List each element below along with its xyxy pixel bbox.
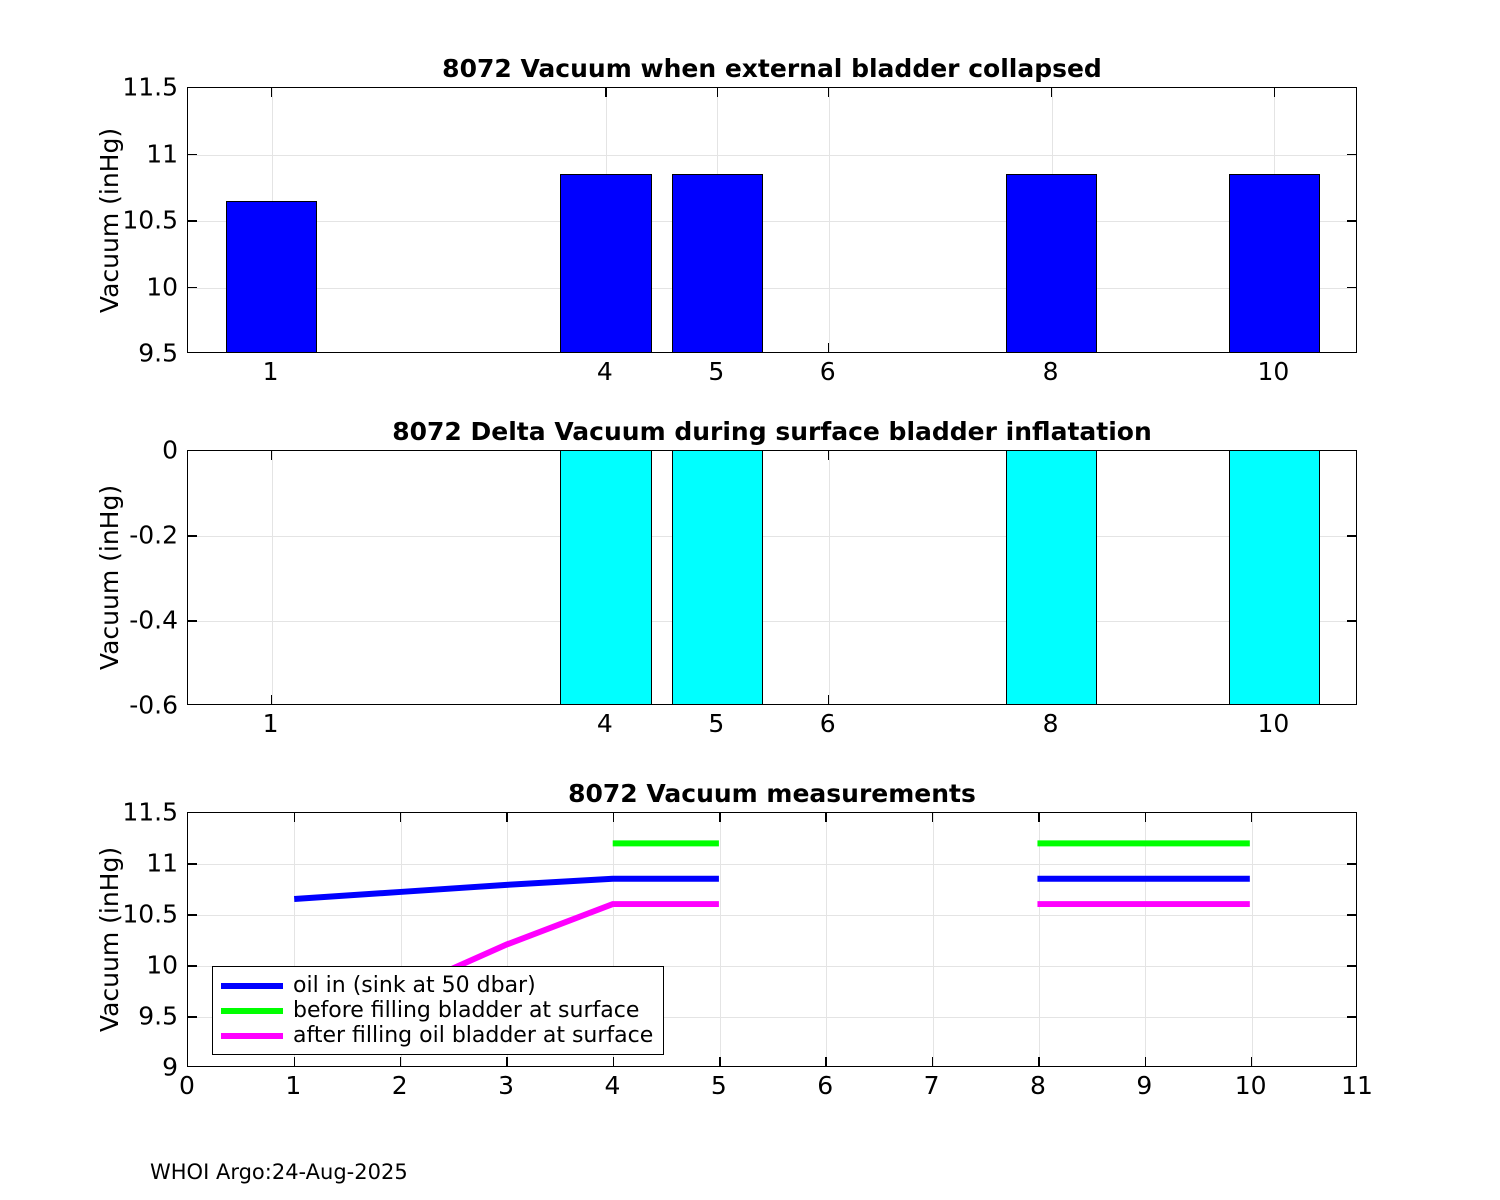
y-tick-label: 9 <box>162 1055 178 1080</box>
x-tick-label: 8 <box>1030 1073 1046 1098</box>
legend-item[interactable]: after filling oil bladder at surface <box>221 1023 653 1048</box>
y-tick-label: 0 <box>162 438 178 463</box>
figure-footer-credit: WHOI Argo:24-Aug-2025 <box>150 1160 408 1184</box>
subplot3-y-axis-label: Vacuum (inHg) <box>97 847 122 1032</box>
x-tick-label: 6 <box>820 711 836 736</box>
subplot1-plot-area <box>187 87 1357 353</box>
legend-label: oil in (sink at 50 dbar) <box>293 975 536 997</box>
bar <box>672 174 763 353</box>
bar <box>1006 451 1097 705</box>
subplot-vacuum-measurements: 8072 Vacuum measurements Vacuum (inHg) o… <box>187 812 1357 1067</box>
x-tick-label: 11 <box>1341 1073 1373 1098</box>
x-tick-label: 5 <box>708 359 724 384</box>
y-tick-label: 11.5 <box>122 800 178 825</box>
y-tick-label: -0.6 <box>129 693 178 718</box>
y-tick-label: 10.5 <box>122 208 178 233</box>
y-tick-label: 10.5 <box>122 902 178 927</box>
bar <box>672 451 763 705</box>
subplot1-y-axis-label: Vacuum (inHg) <box>97 127 122 312</box>
bar <box>1229 451 1320 705</box>
y-tick-label: 11 <box>146 851 178 876</box>
bar <box>560 174 651 353</box>
series-line <box>294 879 719 899</box>
y-tick-label: -0.2 <box>129 523 178 548</box>
x-tick-label: 3 <box>498 1073 514 1098</box>
bar <box>1006 174 1097 353</box>
y-tick-label: -0.4 <box>129 608 178 633</box>
y-tick-label: 10 <box>146 953 178 978</box>
x-tick-label: 2 <box>392 1073 408 1098</box>
subplot2-y-axis-label: Vacuum (inHg) <box>97 485 122 670</box>
y-tick-label: 10 <box>146 274 178 299</box>
legend-color-swatch <box>221 1033 283 1039</box>
y-tick-label: 9.5 <box>138 341 178 366</box>
x-tick-label: 4 <box>597 359 613 384</box>
x-tick-label: 7 <box>924 1073 940 1098</box>
x-tick-label: 0 <box>179 1073 195 1098</box>
y-tick-label: 11 <box>146 141 178 166</box>
subplot-vacuum-bladder-collapsed: 8072 Vacuum when external bladder collap… <box>187 87 1357 353</box>
legend-color-swatch <box>221 983 283 989</box>
legend-item[interactable]: before filling bladder at surface <box>221 998 653 1023</box>
subplot-delta-vacuum-inflation: 8072 Delta Vacuum during surface bladder… <box>187 450 1357 705</box>
y-tick-label: 9.5 <box>138 1004 178 1029</box>
x-tick-label: 4 <box>597 711 613 736</box>
y-tick-label: 11.5 <box>122 75 178 100</box>
bar <box>226 201 317 353</box>
x-tick-label: 1 <box>263 711 279 736</box>
x-tick-label: 1 <box>263 359 279 384</box>
x-tick-label: 6 <box>820 359 836 384</box>
x-tick-label: 4 <box>605 1073 621 1098</box>
legend: oil in (sink at 50 dbar)before filling b… <box>212 966 664 1055</box>
bar <box>560 451 651 705</box>
x-tick-label: 6 <box>817 1073 833 1098</box>
subplot3-title: 8072 Vacuum measurements <box>187 781 1357 806</box>
legend-color-swatch <box>221 1008 283 1014</box>
x-tick-label: 5 <box>708 711 724 736</box>
x-tick-label: 10 <box>1258 711 1290 736</box>
x-tick-label: 1 <box>285 1073 301 1098</box>
subplot2-plot-area <box>187 450 1357 705</box>
legend-label: before filling bladder at surface <box>293 1000 639 1022</box>
x-tick-label: 8 <box>1043 359 1059 384</box>
x-tick-label: 5 <box>711 1073 727 1098</box>
figure-canvas: 8072 Vacuum when external bladder collap… <box>0 0 1500 1200</box>
x-tick-label: 10 <box>1235 1073 1267 1098</box>
subplot2-title: 8072 Delta Vacuum during surface bladder… <box>187 419 1357 444</box>
legend-label: after filling oil bladder at surface <box>293 1025 653 1047</box>
legend-item[interactable]: oil in (sink at 50 dbar) <box>221 973 653 998</box>
x-tick-label: 9 <box>1136 1073 1152 1098</box>
x-tick-label: 10 <box>1258 359 1290 384</box>
subplot1-title: 8072 Vacuum when external bladder collap… <box>187 56 1357 81</box>
x-tick-label: 8 <box>1043 711 1059 736</box>
bar <box>1229 174 1320 353</box>
